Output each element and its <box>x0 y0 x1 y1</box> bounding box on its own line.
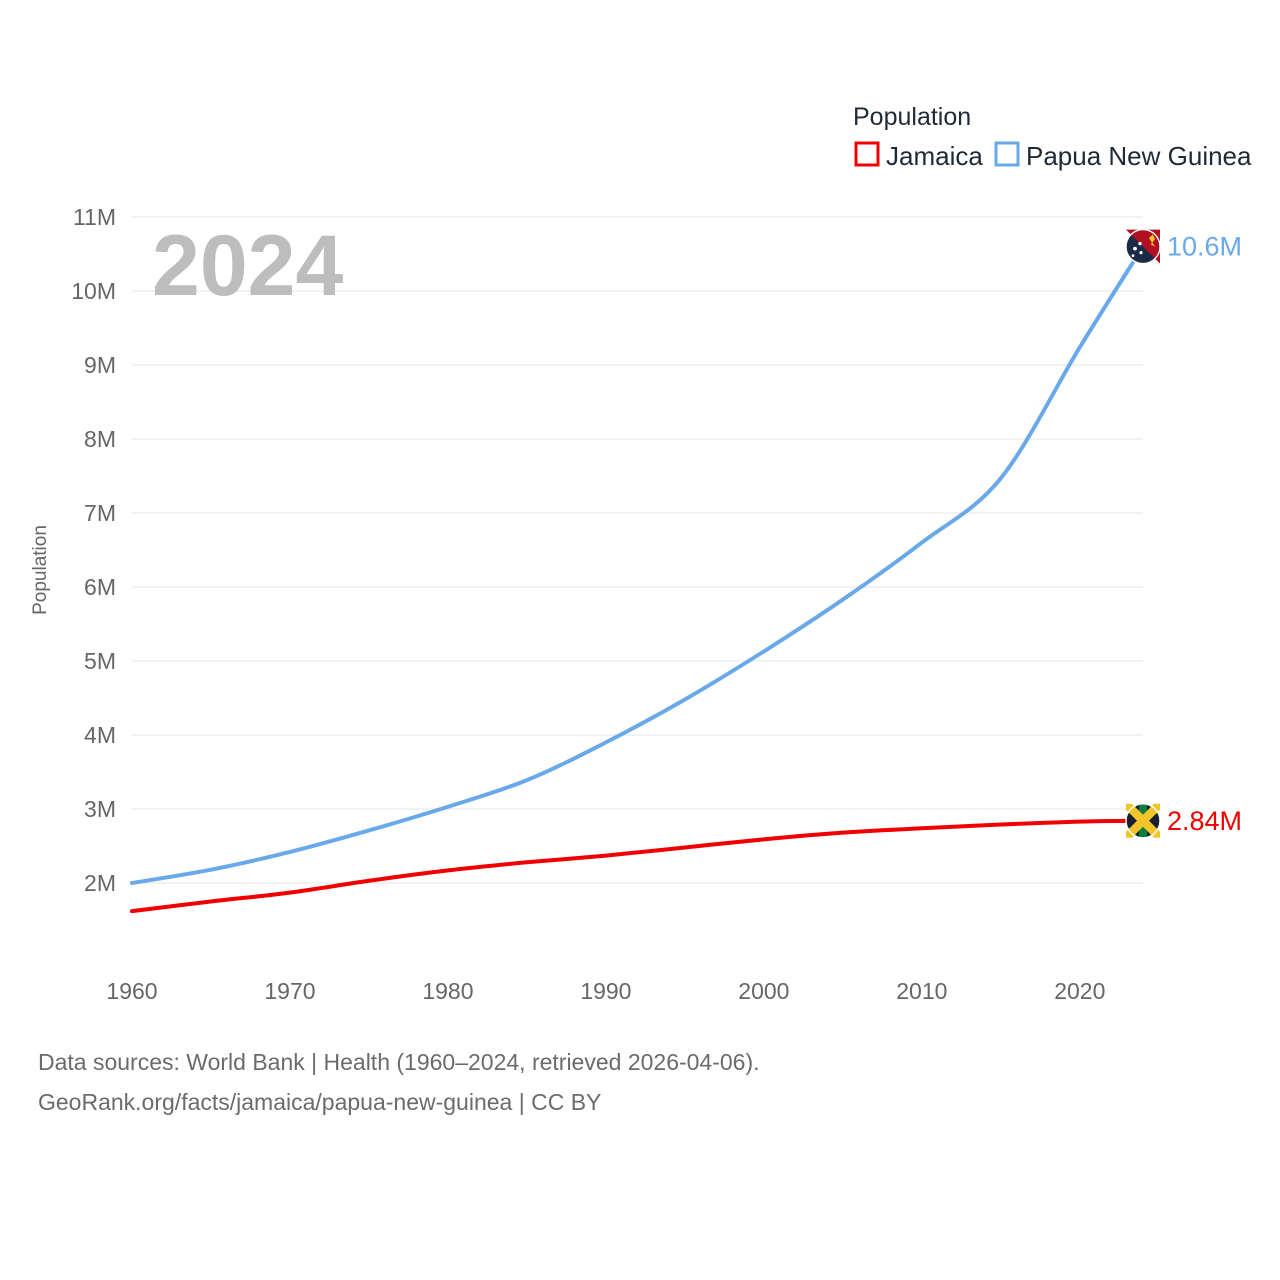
endpoint-label-papua-new-guinea: 10.6M <box>1167 232 1242 262</box>
y-axis-tick-label: 9M <box>84 352 116 378</box>
y-axis-tick-label: 4M <box>84 722 116 748</box>
legend-title: Population <box>853 103 971 131</box>
endpoint-label-jamaica: 2.84M <box>1167 806 1242 836</box>
year-watermark: 2024 <box>152 218 343 314</box>
x-axis-tick-label: 1960 <box>106 978 157 1004</box>
y-axis-tick-label: 10M <box>71 278 116 304</box>
x-axis-tick-label: 1970 <box>264 978 315 1004</box>
x-axis-tick-label: 1980 <box>422 978 473 1004</box>
chart-background <box>0 0 1280 1280</box>
y-axis-tick-label: 2M <box>84 870 116 896</box>
footer-line-2: GeoRank.org/facts/jamaica/papua-new-guin… <box>38 1089 601 1115</box>
jamaica-flag-icon <box>1126 804 1160 838</box>
legend-label-jamaica[interactable]: Jamaica <box>886 141 983 171</box>
x-axis-tick-label: 2010 <box>896 978 947 1004</box>
legend-swatch-papua-new-guinea[interactable] <box>996 143 1018 165</box>
x-axis-tick-label: 2020 <box>1054 978 1105 1004</box>
endpoint-papua-new-guinea[interactable]: 10.6M <box>1126 230 1242 264</box>
y-axis-tick-label: 3M <box>84 796 116 822</box>
y-axis-tick-label: 7M <box>84 500 116 526</box>
x-axis-tick-label: 1990 <box>580 978 631 1004</box>
y-axis-tick-label: 11M <box>73 204 116 230</box>
legend-swatch-jamaica[interactable] <box>856 143 878 165</box>
footer-line-1: Data sources: World Bank | Health (1960–… <box>38 1049 760 1075</box>
x-axis-tick-label: 2000 <box>738 978 789 1004</box>
y-axis-tick-label: 5M <box>84 648 116 674</box>
legend-label-papua-new-guinea[interactable]: Papua New Guinea <box>1026 141 1252 171</box>
papua-new-guinea-flag-icon <box>1126 230 1160 264</box>
y-axis-tick-label: 6M <box>84 574 116 600</box>
y-axis-title: Population <box>30 525 51 615</box>
endpoint-jamaica[interactable]: 2.84M <box>1126 804 1242 838</box>
y-axis-tick-label: 8M <box>84 426 116 452</box>
population-line-chart: Population Jamaica Papua New Guinea 2M3M… <box>0 0 1280 1280</box>
